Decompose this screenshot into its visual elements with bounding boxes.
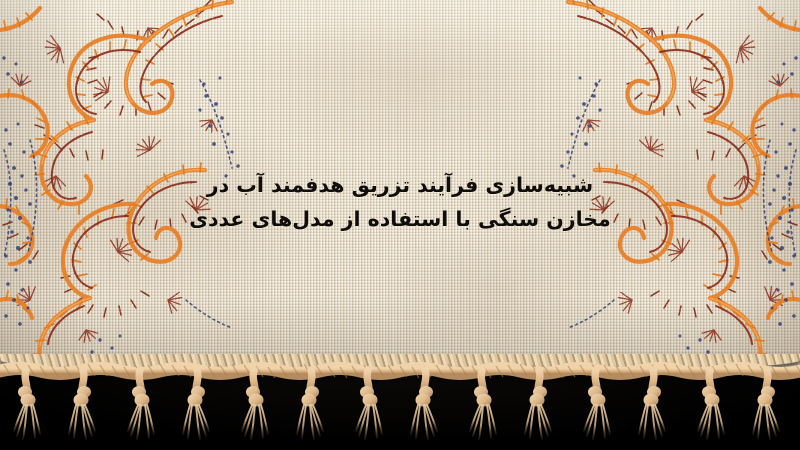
title-line-1: شبیه‌سازی فرآیند تزریق هدفمند آب در <box>0 168 800 202</box>
title-line-2: مخازن سنگی با استفاده از مدل‌های عددی <box>0 202 800 236</box>
slide-canvas: شبیه‌سازی فرآیند تزریق هدفمند آب در مخاز… <box>0 0 800 450</box>
knotted-tassel-fringe <box>0 360 800 450</box>
slide-title: شبیه‌سازی فرآیند تزریق هدفمند آب در مخاز… <box>0 168 800 236</box>
